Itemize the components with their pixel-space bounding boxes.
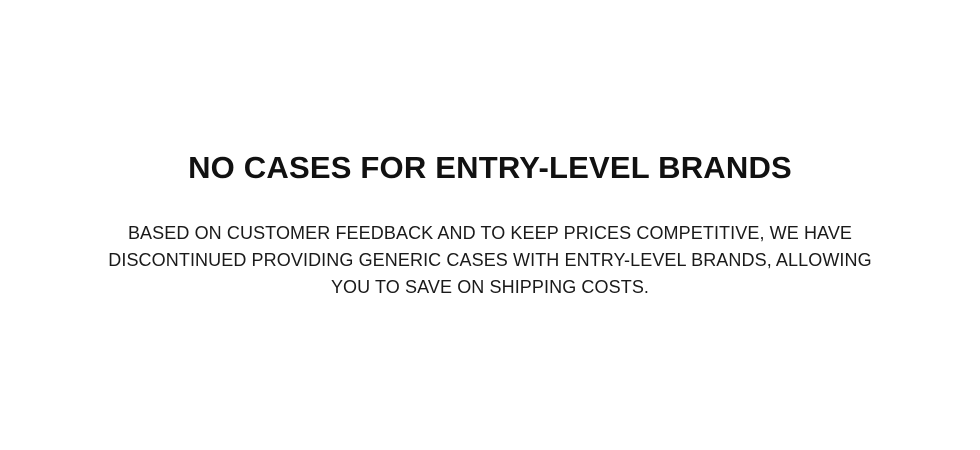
- banner-description: BASED ON CUSTOMER FEEDBACK AND TO KEEP P…: [95, 220, 885, 301]
- banner-content: NO CASES FOR ENTRY-LEVEL BRANDS BASED ON…: [50, 152, 930, 301]
- promo-banner: NO CASES FOR ENTRY-LEVEL BRANDS BASED ON…: [0, 0, 980, 450]
- banner-heading: NO CASES FOR ENTRY-LEVEL BRANDS: [188, 152, 792, 184]
